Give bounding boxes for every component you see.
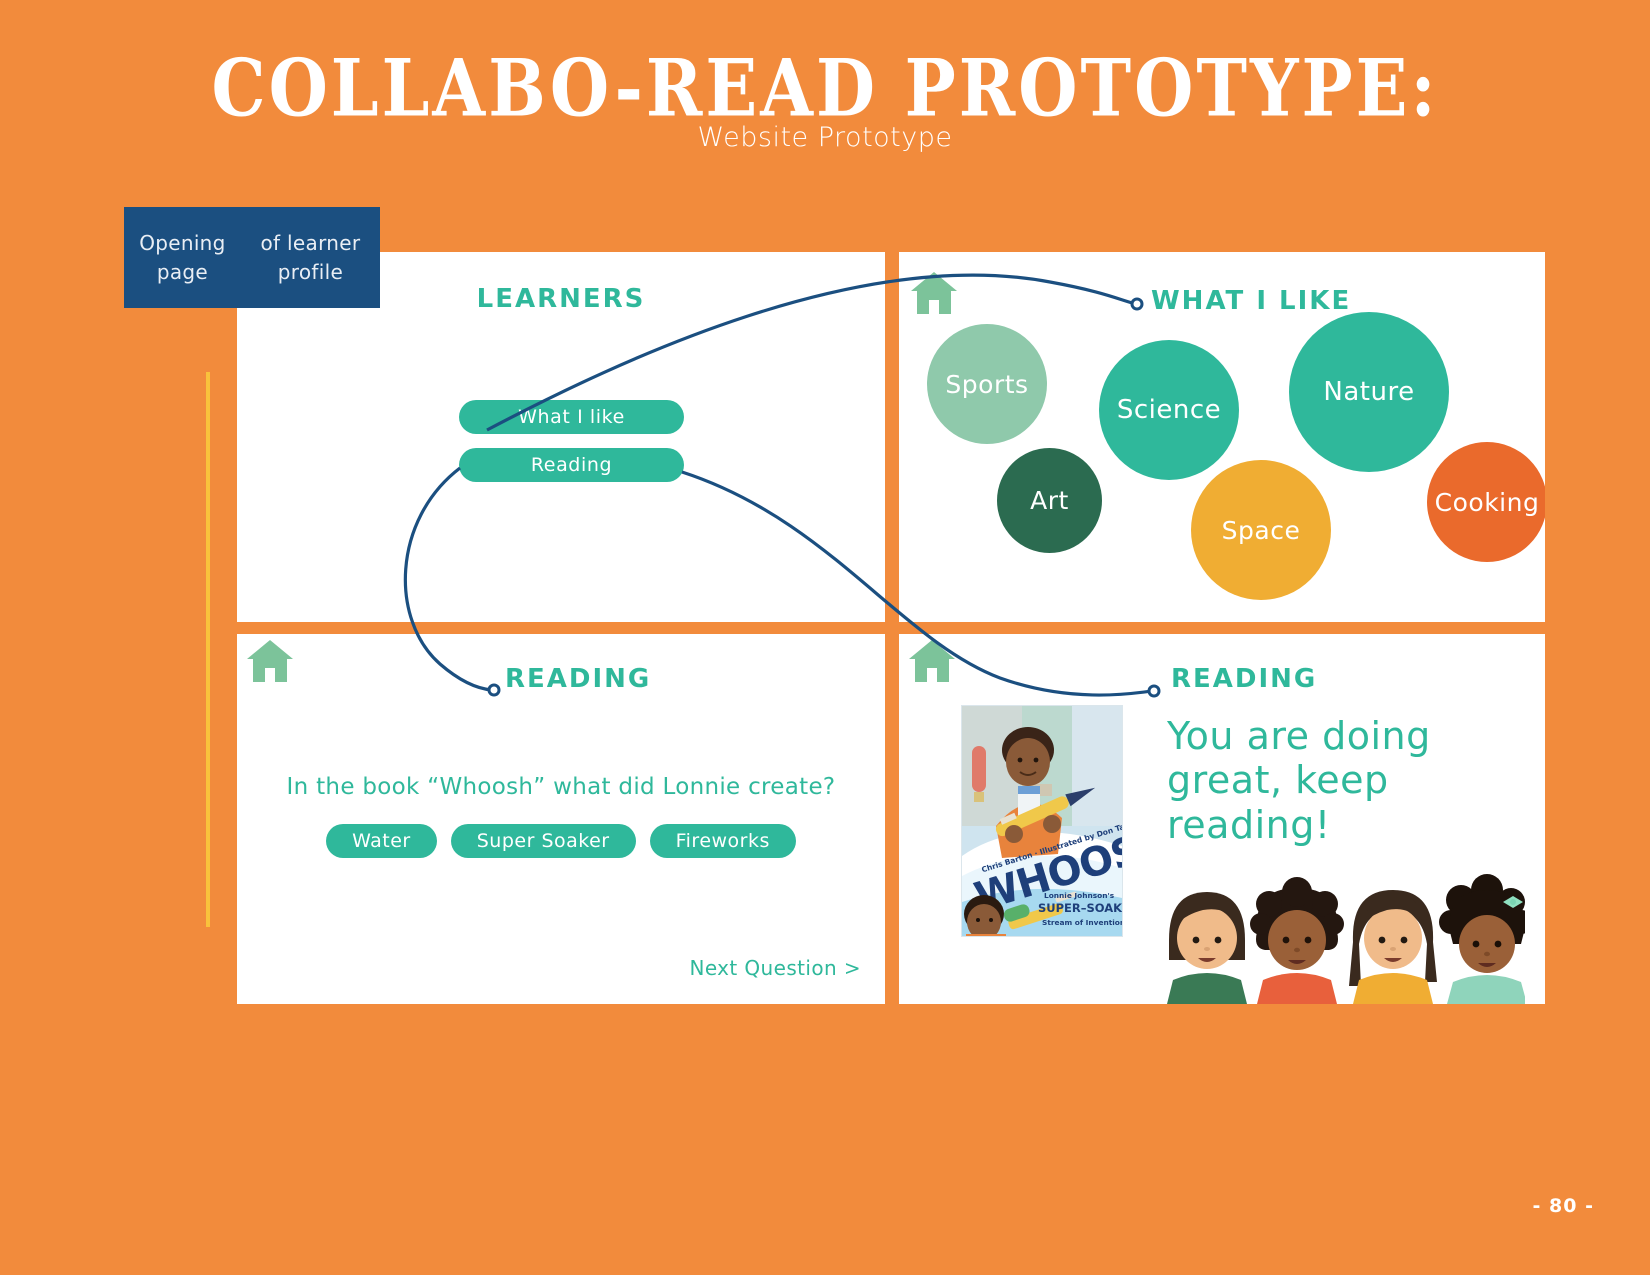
panel-what-i-like: WHAT I LIKE Sports Science Nature Art Sp… [899, 252, 1545, 622]
bubble-cooking[interactable]: Cooking [1427, 442, 1545, 562]
book-cover-whoosh: WHOOSH! Chris Barton · Illustrated by Do… [962, 706, 1122, 936]
panel-reading-praise: READING [899, 634, 1545, 1004]
praise-panel-title: READING [1171, 664, 1317, 694]
praise-message: You are doing great, keep reading! [1167, 714, 1497, 847]
answer-button-super-soaker[interactable]: Super Soaker [451, 824, 636, 858]
answer-button-fireworks[interactable]: Fireworks [650, 824, 796, 858]
house-icon[interactable] [245, 638, 295, 684]
bubble-nature[interactable]: Nature [1289, 312, 1449, 472]
learners-what-i-like-button[interactable]: What I like [459, 400, 684, 434]
house-icon[interactable] [909, 270, 959, 316]
what-i-like-panel-title: WHAT I LIKE [1151, 286, 1351, 316]
answer-button-water[interactable]: Water [326, 824, 437, 858]
quiz-panel-title: READING [505, 664, 651, 694]
kids-illustration [1155, 870, 1525, 1004]
svg-text:Stream of Inventions: Stream of Inventions [1042, 918, 1122, 927]
page-number: - 80 - [1533, 1195, 1594, 1217]
svg-text:Lonnie Johnson's: Lonnie Johnson's [1044, 891, 1115, 900]
bubble-science[interactable]: Science [1099, 340, 1239, 480]
next-question-link[interactable]: Next Question > [689, 956, 861, 980]
slide-root: COLLABO-READ PROTOTYPE: Website Prototyp… [0, 0, 1650, 1275]
yellow-accent-rule [206, 372, 210, 927]
quiz-answer-row: Water Super Soaker Fireworks [237, 824, 885, 858]
house-icon[interactable] [907, 638, 957, 684]
bubble-space[interactable]: Space [1191, 460, 1331, 600]
bubble-art[interactable]: Art [997, 448, 1102, 553]
callout-opening-page: Opening page of learner profile [124, 207, 380, 308]
learners-reading-button[interactable]: Reading [459, 448, 684, 482]
page-title: COLLABO-READ PROTOTYPE: [0, 50, 1650, 128]
panel-reading-quiz: READING In the book “Whoosh” what did Lo… [237, 634, 885, 1004]
quiz-question: In the book “Whoosh” what did Lonnie cre… [237, 774, 885, 800]
svg-text:SUPER–SOAKING: SUPER–SOAKING [1038, 901, 1122, 915]
bubble-sports[interactable]: Sports [927, 324, 1047, 444]
page-subtitle: Website Prototype [0, 122, 1650, 153]
callout-line-2: of learner profile [241, 229, 380, 287]
callout-line-1: Opening page [124, 229, 241, 287]
